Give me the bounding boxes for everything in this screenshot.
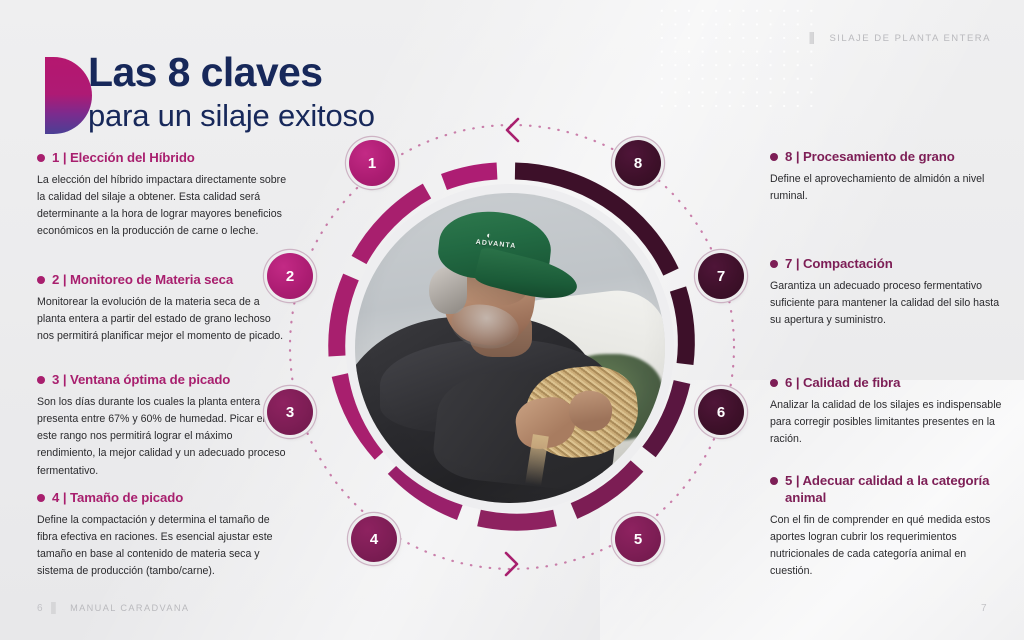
bullet-dot-icon (37, 494, 45, 502)
footer-page-number-left: 6 (37, 603, 43, 614)
bullet-dot-icon (37, 154, 45, 162)
key-item-2-title: Monitoreo de Materia seca (70, 272, 233, 287)
diagram-badge-1[interactable]: 1 (349, 140, 395, 186)
diagram-badge-4[interactable]: 4 (351, 516, 397, 562)
bullet-dot-icon (37, 276, 45, 284)
header-eyebrow: SILAJE DE PLANTA ENTERA (809, 32, 991, 44)
key-item-2-separator: | (63, 272, 67, 287)
diagram-badge-6[interactable]: 6 (698, 389, 744, 435)
key-item-3-heading: 3 | Ventana óptima de picado (37, 372, 289, 389)
header-eyebrow-text: SILAJE DE PLANTA ENTERA (829, 33, 991, 44)
key-item-6-number: 6 (785, 375, 792, 390)
key-item-4-number: 4 (52, 490, 59, 505)
diagram-badge-5[interactable]: 5 (615, 516, 661, 562)
key-item-8-number: 8 (785, 149, 792, 164)
key-item-4: 4 | Tamaño de picado Define la compactac… (37, 490, 289, 581)
key-item-2-heading: 2 | Monitoreo de Materia seca (37, 272, 289, 289)
key-item-1-heading: 1 | Elección del Híbrido (37, 150, 289, 167)
key-item-7-heading: 7 | Compactación (770, 256, 1002, 273)
key-item-2-body: Monitorear la evolución de la materia se… (37, 294, 289, 345)
key-item-6-separator: | (796, 375, 800, 390)
advanta-d-mark-icon (45, 57, 92, 134)
key-item-4-separator: | (63, 490, 67, 505)
key-item-6-title: Calidad de fibra (803, 375, 900, 390)
double-chevron-marker-icon (51, 602, 62, 614)
key-item-7-number: 7 (785, 256, 792, 271)
key-item-5: 5 | Adecuar calidad a la categoría anima… (770, 473, 1002, 580)
key-item-5-heading: 5 | Adecuar calidad a la categoría anima… (770, 473, 1002, 507)
key-item-7-separator: | (796, 256, 800, 271)
key-item-8: 8 | Procesamiento de grano Define el apr… (770, 149, 1002, 205)
bullet-dot-icon (770, 260, 778, 268)
diagram-badge-7[interactable]: 7 (698, 253, 744, 299)
key-item-2: 2 | Monitoreo de Materia seca Monitorear… (37, 272, 289, 345)
key-item-5-number: 5 (785, 473, 792, 488)
key-item-2-number: 2 (52, 272, 59, 287)
diagram-badge-2[interactable]: 2 (267, 253, 313, 299)
key-item-3-number: 3 (52, 372, 59, 387)
ring-segment-2 (337, 277, 351, 356)
key-item-1-number: 1 (52, 150, 59, 165)
key-item-5-title: Adecuar calidad a la categoría animal (785, 473, 989, 505)
key-item-8-title: Procesamiento de grano (803, 149, 955, 164)
bullet-dot-icon (37, 376, 45, 384)
key-item-3-separator: | (63, 372, 67, 387)
ring-segment-bottom (479, 518, 555, 522)
infographic-page: SILAJE DE PLANTA ENTERA Las 8 claves par… (0, 0, 1024, 640)
key-item-1-body: La elección del híbrido impactara direct… (37, 172, 289, 241)
key-item-8-separator: | (796, 149, 800, 164)
key-item-7: 7 | Compactación Garantiza un adecuado p… (770, 256, 1002, 329)
key-item-4-body: Define la compactación y determina el ta… (37, 512, 289, 581)
key-item-4-heading: 4 | Tamaño de picado (37, 490, 289, 507)
double-chevron-marker-icon (809, 32, 820, 44)
bullet-dot-icon (770, 153, 778, 161)
key-item-6-body: Analizar la calidad de los silajes es in… (770, 397, 1002, 448)
footer-page-number-right: 7 (981, 603, 987, 614)
key-item-1: 1 | Elección del Híbrido La elección del… (37, 150, 289, 241)
farmer-holding-silage-photo: ◐ ADVANTA (355, 193, 665, 503)
key-item-4-title: Tamaño de picado (70, 490, 183, 505)
footer-label: MANUAL CARADVANA (70, 603, 189, 613)
key-item-7-title: Compactación (803, 256, 893, 271)
key-item-7-body: Garantiza un adecuado proceso fermentati… (770, 278, 1002, 329)
ring-segment-1 (444, 171, 497, 182)
page-title-line1: Las 8 claves (88, 52, 375, 93)
key-item-5-body: Con el fin de comprender en qué medida e… (770, 512, 1002, 581)
key-item-6: 6 | Calidad de fibra Analizar la calidad… (770, 375, 1002, 448)
chevron-left-icon (507, 119, 518, 141)
diagram-badge-3[interactable]: 3 (267, 389, 313, 435)
key-item-6-heading: 6 | Calidad de fibra (770, 375, 1002, 392)
key-item-1-separator: | (63, 150, 67, 165)
bullet-dot-icon (770, 477, 778, 485)
key-item-3: 3 | Ventana óptima de picado Son los día… (37, 372, 289, 480)
key-item-1-title: Elección del Híbrido (70, 150, 195, 165)
dot-grid-pattern (655, 4, 815, 116)
footer-left: 6 MANUAL CARADVANA (37, 602, 189, 614)
ring-segment-7 (678, 289, 686, 364)
key-item-8-heading: 8 | Procesamiento de grano (770, 149, 1002, 166)
key-item-8-body: Define el aprovechamiento de almidón a n… (770, 171, 1002, 205)
circular-diagram: ◐ ADVANTA 1 2 3 4 5 6 7 8 (267, 112, 757, 582)
chevron-right-icon (506, 553, 517, 575)
key-item-5-separator: | (796, 473, 800, 488)
key-item-3-body: Son los días durante los cuales la plant… (37, 394, 289, 480)
bullet-dot-icon (770, 379, 778, 387)
key-item-3-title: Ventana óptima de picado (70, 372, 230, 387)
diagram-badge-8[interactable]: 8 (615, 140, 661, 186)
photo-vignette (355, 193, 665, 503)
